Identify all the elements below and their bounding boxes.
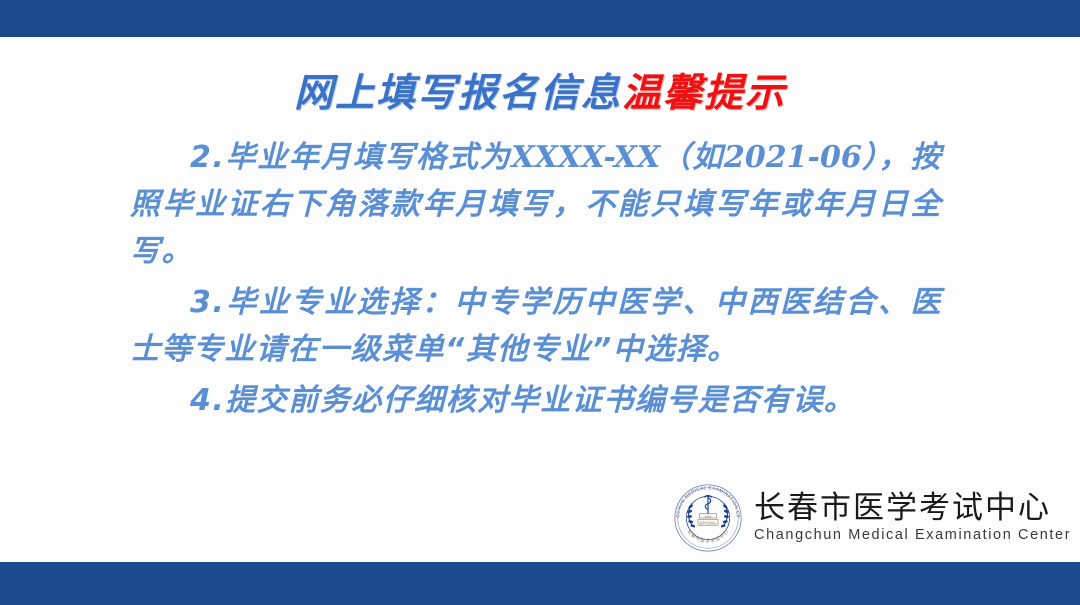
- notice-paragraph-3: 3.毕业专业选择：中专学历中医学、中西医结合、医士等专业请在一级菜单“其他专业”…: [130, 279, 942, 373]
- svg-text:医学考试中心: 医学考试中心: [699, 520, 716, 525]
- page-title: 网上填写报名信息温馨提示: [0, 62, 1080, 118]
- page-title-red-part: 温馨提示: [622, 71, 786, 116]
- notice-body: 2.毕业年月填写格式为XXXX-XX（如2021-06），按照毕业证右下角落款年…: [130, 134, 942, 428]
- svg-text:1982: 1982: [704, 514, 711, 518]
- notice-example-date: 2021-06: [724, 140, 862, 175]
- svg-text:CHANGCHUN MEDICAL EXAMINATION: CHANGCHUN MEDICAL EXAMINATION CENTER: [672, 482, 741, 518]
- logo-text-block: 长春市医学考试中心 Changchun Medical Examination …: [754, 491, 1071, 545]
- page-title-blue-part: 网上填写报名信息: [294, 71, 622, 116]
- circular-medical-seal-icon: CHANGCHUN MEDICAL EXAMINATION CENTER 长春市…: [672, 482, 744, 554]
- logo-name-cn: 长春市医学考试中心: [754, 491, 1071, 525]
- notice-text-segment: 2.毕业年月填写格式为: [190, 140, 511, 175]
- notice-paragraph-4: 4.提交前务必仔细核对毕业证书编号是否有误。: [130, 377, 942, 424]
- svg-text:长春市医学考试中心: 长春市医学考试中心: [686, 528, 731, 544]
- logo-name-en: Changchun Medical Examination Center: [754, 525, 1071, 545]
- notice-format-placeholder: XXXX-XX: [511, 140, 660, 175]
- notice-paragraph-2: 2.毕业年月填写格式为XXXX-XX（如2021-06），按照毕业证右下角落款年…: [130, 134, 942, 275]
- top-decorative-bar: [0, 0, 1080, 37]
- notice-text-segment: （如: [660, 140, 724, 175]
- organization-logo: CHANGCHUN MEDICAL EXAMINATION CENTER 长春市…: [672, 482, 1071, 554]
- slide-canvas: 网上填写报名信息温馨提示 2.毕业年月填写格式为XXXX-XX（如2021-06…: [0, 0, 1080, 605]
- bottom-decorative-bar: [0, 562, 1080, 605]
